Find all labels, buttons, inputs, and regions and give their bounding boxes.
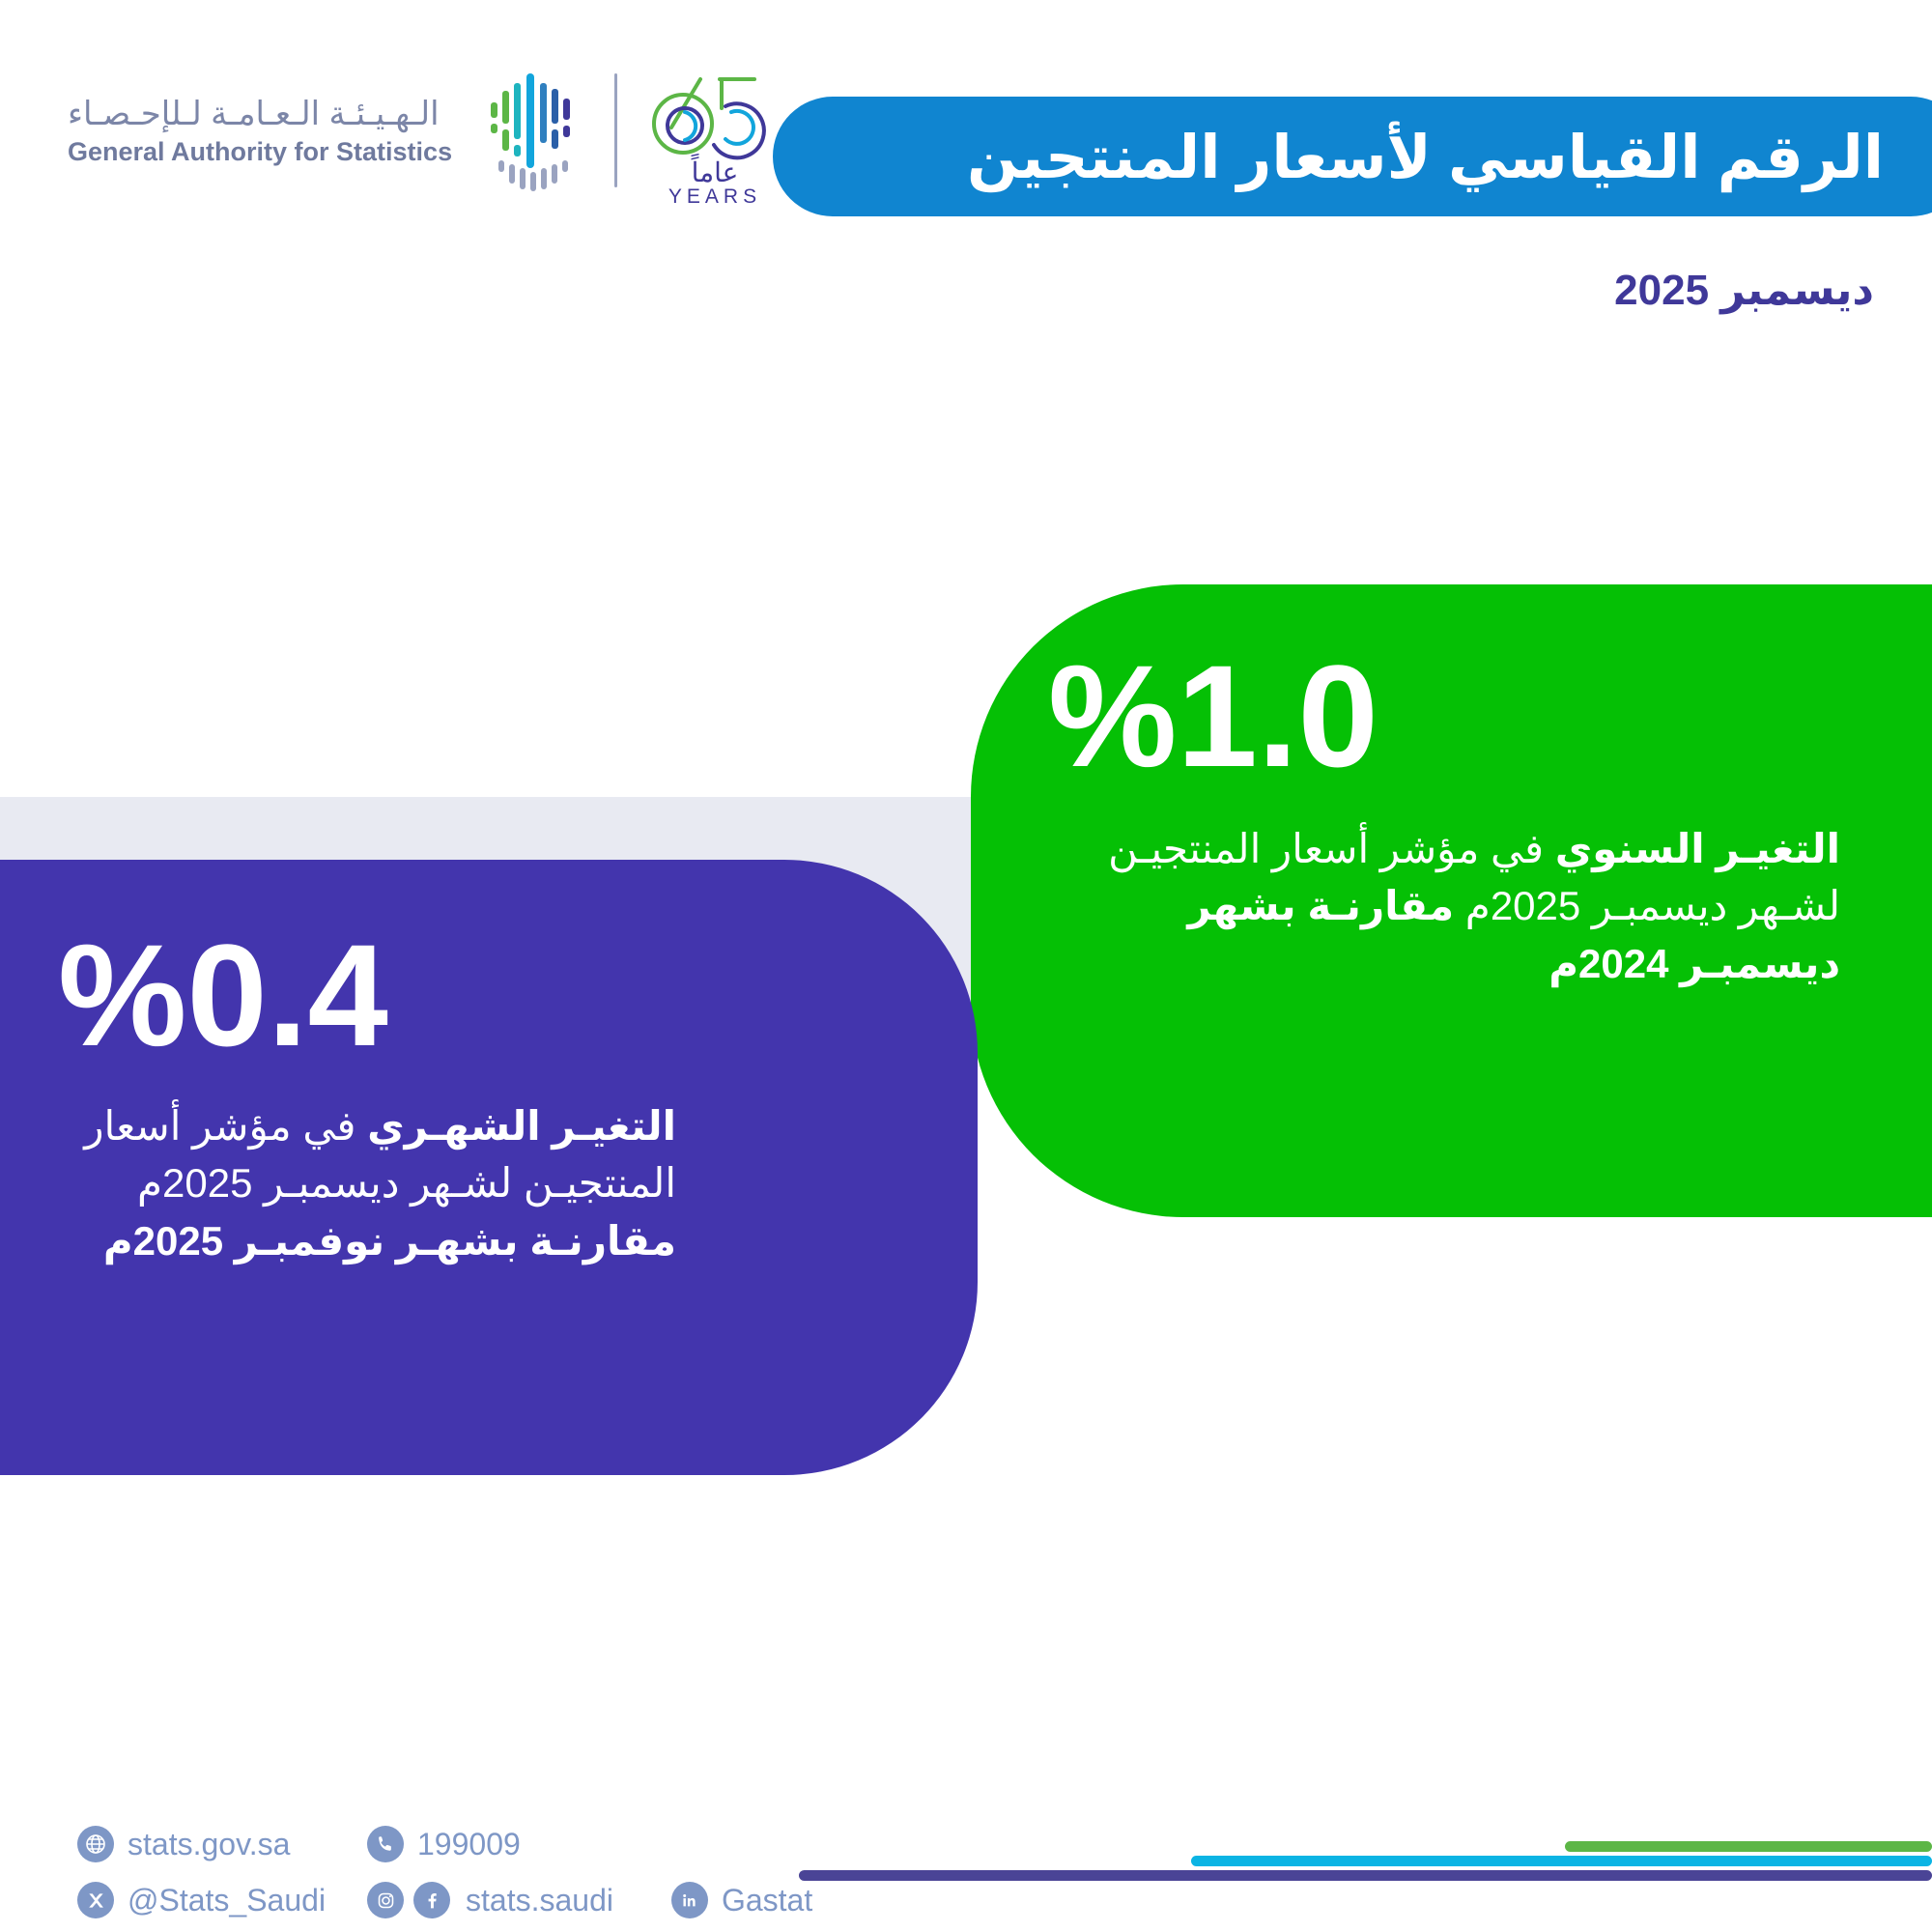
monthly-change-card: %0.4 التغيـر الشهـري في مؤشر أسعار المنت… bbox=[0, 860, 978, 1475]
social-handle-label: stats.saudi bbox=[466, 1883, 613, 1918]
footer-row-1: stats.gov.sa 199009 bbox=[77, 1816, 812, 1872]
logo-divider bbox=[614, 73, 617, 187]
x-twitter-icon bbox=[77, 1882, 114, 1918]
footer-linkedin[interactable]: Gastat bbox=[671, 1882, 812, 1918]
footer-phone[interactable]: 199009 bbox=[367, 1826, 521, 1862]
page-title: الرقم القياسي لأسعار المنتجين bbox=[967, 122, 1884, 192]
footer-contacts: stats.gov.sa 199009 @Stats_Saudi bbox=[77, 1816, 812, 1928]
annual-change-description: التغيـر السنوي في مؤشر أسعار المنتجيـن ل… bbox=[1048, 820, 1840, 993]
anniversary-arabic-label: عاماً bbox=[692, 153, 739, 187]
monthly-desc-lead: التغيـر الشهـري bbox=[367, 1103, 676, 1149]
gastat-logo-block: عاماً YEARS bbox=[68, 58, 787, 203]
globe-icon bbox=[77, 1826, 114, 1862]
report-date: ديسمبر 2025 bbox=[1614, 266, 1874, 315]
65-years-anniversary-logo: عاماً YEARS bbox=[642, 58, 787, 203]
title-banner: الرقم القياسي لأسعار المنتجين bbox=[773, 97, 1932, 216]
footer-accent-bar-cyan bbox=[1191, 1856, 1932, 1866]
footer-website[interactable]: stats.gov.sa bbox=[77, 1826, 367, 1862]
linkedin-icon bbox=[671, 1882, 708, 1918]
facebook-icon bbox=[413, 1882, 450, 1918]
footer-row-2: @Stats_Saudi stats.saudi bbox=[77, 1872, 812, 1928]
monthly-change-value: %0.4 bbox=[58, 920, 388, 1072]
footer-accent-bar-purple bbox=[799, 1870, 1932, 1881]
website-label: stats.gov.sa bbox=[128, 1827, 290, 1862]
footer-x-account[interactable]: @Stats_Saudi bbox=[77, 1882, 367, 1918]
gastat-symbol-icon bbox=[483, 68, 589, 193]
gastat-wordmark: الـهـيـئـة الـعـامـة لـلإحـصـاء General … bbox=[68, 95, 452, 167]
monthly-change-description: التغيـر الشهـري في مؤشر أسعار المنتجيـن … bbox=[58, 1097, 676, 1270]
annual-change-card: %1.0 التغيـر السنوي في مؤشر أسعار المنتج… bbox=[971, 584, 1932, 1217]
footer-accent-bar-green bbox=[1565, 1841, 1932, 1852]
linkedin-label: Gastat bbox=[722, 1883, 812, 1918]
x-handle-label: @Stats_Saudi bbox=[128, 1883, 326, 1918]
authority-name-english: General Authority for Statistics bbox=[68, 137, 452, 167]
annual-change-value: %1.0 bbox=[1048, 640, 1378, 793]
anniversary-years-label: YEARS bbox=[668, 185, 761, 203]
phone-icon bbox=[367, 1826, 404, 1862]
phone-label: 199009 bbox=[417, 1827, 521, 1862]
monthly-desc-tail: مقارنـة بشهـر نوفمبـر 2025م bbox=[103, 1218, 676, 1264]
instagram-icon bbox=[367, 1882, 404, 1918]
authority-name-arabic: الـهـيـئـة الـعـامـة لـلإحـصـاء bbox=[68, 95, 440, 133]
infographic-canvas: عاماً YEARS bbox=[0, 0, 1932, 1932]
footer-social-handle[interactable]: stats.saudi bbox=[367, 1882, 613, 1918]
annual-desc-lead: التغيـر السنوي bbox=[1555, 826, 1840, 871]
